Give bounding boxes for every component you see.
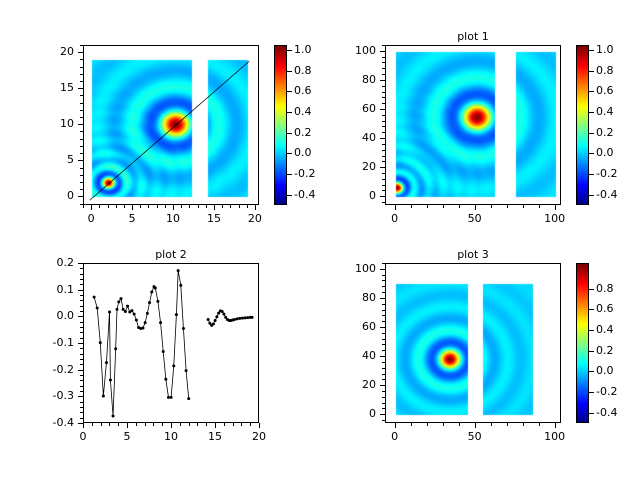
ytick-minor bbox=[382, 374, 385, 375]
ytick-minor bbox=[382, 368, 385, 369]
ytick-minor bbox=[382, 275, 385, 276]
ytick-minor bbox=[382, 362, 385, 363]
ytick-minor bbox=[382, 315, 385, 316]
ytick-minor bbox=[382, 385, 385, 386]
cbar-tick-label: 0.8 bbox=[596, 282, 614, 295]
xtick-label: 100 bbox=[535, 430, 575, 443]
ytick-minor bbox=[382, 408, 385, 409]
xtick-minor bbox=[491, 423, 492, 426]
ytick-label: 0 bbox=[334, 407, 376, 420]
ytick-minor bbox=[382, 292, 385, 293]
ytick-minor bbox=[382, 414, 385, 415]
ytick-minor bbox=[382, 420, 385, 421]
xtick-minor bbox=[395, 423, 396, 426]
cbar-tick-label: 0.4 bbox=[596, 323, 614, 336]
cbar-tick-label: -0.4 bbox=[596, 406, 617, 419]
ytick-minor bbox=[382, 356, 385, 357]
ytick-minor bbox=[382, 321, 385, 322]
ytick-label: 100 bbox=[334, 262, 376, 275]
ytick-label: 80 bbox=[334, 291, 376, 304]
ytick-label: 20 bbox=[334, 378, 376, 391]
ytick-minor bbox=[382, 286, 385, 287]
xtick-label: 50 bbox=[455, 430, 495, 443]
xtick-minor bbox=[507, 423, 508, 426]
ytick-minor bbox=[382, 344, 385, 345]
heatmap-image-plot3 bbox=[386, 264, 561, 423]
xtick-label: 0 bbox=[375, 430, 415, 443]
ytick-minor bbox=[382, 333, 385, 334]
ytick-minor bbox=[382, 269, 385, 270]
xtick-minor bbox=[459, 423, 460, 426]
panel-title-plot3: plot 3 bbox=[385, 248, 561, 261]
axes-plot3 bbox=[385, 263, 561, 423]
ytick-minor bbox=[382, 304, 385, 305]
xtick-minor bbox=[427, 423, 428, 426]
ytick-minor bbox=[382, 298, 385, 299]
ytick-minor bbox=[382, 397, 385, 398]
ytick-label: 60 bbox=[334, 320, 376, 333]
cbar-tick bbox=[589, 392, 594, 393]
ytick-minor bbox=[382, 339, 385, 340]
xtick-minor bbox=[443, 423, 444, 426]
cbar-tick bbox=[589, 289, 594, 290]
xtick-minor bbox=[523, 423, 524, 426]
cbar-tick bbox=[589, 371, 594, 372]
cbar-tick bbox=[589, 309, 594, 310]
ytick-label: 40 bbox=[334, 349, 376, 362]
cbar-tick-label: 0.2 bbox=[596, 344, 614, 357]
ytick-minor bbox=[382, 403, 385, 404]
xtick-minor bbox=[411, 423, 412, 426]
cbar-tick-label: -0.2 bbox=[596, 385, 617, 398]
xtick-minor bbox=[555, 423, 556, 426]
cbar-tick bbox=[589, 351, 594, 352]
cbar-tick bbox=[589, 413, 594, 414]
cbar-tick-label: 0.0 bbox=[596, 364, 614, 377]
ytick-minor bbox=[382, 327, 385, 328]
ytick-minor bbox=[382, 391, 385, 392]
ytick-minor bbox=[382, 310, 385, 311]
figure-canvas: 0510152005101520-0.4-0.20.00.20.40.60.81… bbox=[0, 0, 640, 480]
cbar-tick-label: 0.6 bbox=[596, 302, 614, 315]
panel-plot3: plot 3050100020406080100-0.4-0.20.00.20.… bbox=[0, 0, 640, 480]
xtick-minor bbox=[539, 423, 540, 426]
ytick-minor bbox=[382, 263, 385, 264]
ytick-minor bbox=[382, 350, 385, 351]
colorbar-plot3 bbox=[576, 263, 589, 423]
colorbar-gradient bbox=[577, 264, 589, 423]
cbar-tick bbox=[589, 330, 594, 331]
ytick-minor bbox=[382, 379, 385, 380]
ytick-minor bbox=[382, 280, 385, 281]
xtick-minor bbox=[475, 423, 476, 426]
